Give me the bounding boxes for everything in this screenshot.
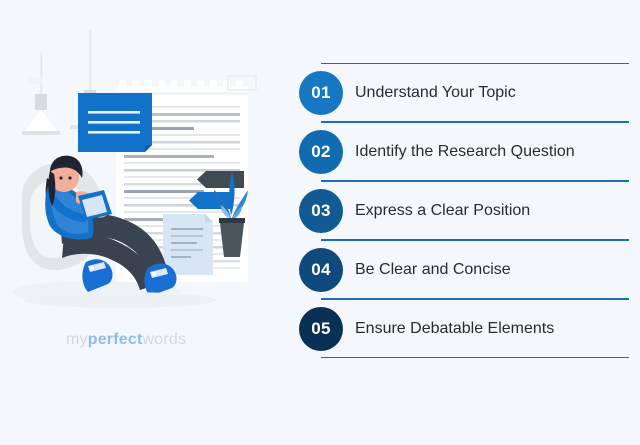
- step-label-2: Identify the Research Question: [355, 143, 575, 161]
- step-row-3[interactable]: 03 Express a Clear Position: [299, 181, 629, 240]
- step-label-3: Express a Clear Position: [355, 202, 530, 220]
- step-number-3: 03: [311, 201, 331, 221]
- step-rule-bottom-5: [321, 357, 629, 358]
- step-number-1: 01: [311, 83, 331, 103]
- pendant-lamp-left-icon: [22, 52, 60, 135]
- step-badge-5: 05: [299, 307, 343, 351]
- step-number-2: 02: [311, 142, 331, 162]
- blue-paper-sheet: [163, 214, 213, 275]
- step-row-2[interactable]: 02 Identify the Research Question: [299, 122, 629, 181]
- step-badge-2: 02: [299, 130, 343, 174]
- blue-sticky-note: [78, 93, 152, 152]
- logo-part-perfect: perfect: [88, 331, 143, 348]
- step-rule-top-5: [321, 299, 629, 300]
- dark-arrow-banner: [197, 171, 244, 188]
- step-rule-top-4: [321, 240, 629, 241]
- step-label-1: Understand Your Topic: [355, 84, 516, 102]
- step-number-5: 05: [311, 319, 331, 339]
- step-number-4: 04: [311, 260, 331, 280]
- floor-shadow: [24, 292, 216, 308]
- brand-logo: myperfectwords: [66, 331, 186, 349]
- step-rule-top-2: [321, 122, 629, 123]
- infographic-canvas: myperfectwords 01 Understand Your Topic …: [0, 0, 640, 440]
- steps-list: 01 Understand Your Topic 02 Identify the…: [299, 63, 629, 358]
- step-badge-4: 04: [299, 248, 343, 292]
- step-label-4: Be Clear and Concise: [355, 261, 511, 279]
- step-rule-top-3: [321, 181, 629, 182]
- step-badge-3: 03: [299, 189, 343, 233]
- step-badge-1: 01: [299, 71, 343, 115]
- logo-part-my: my: [66, 331, 88, 348]
- step-row-5[interactable]: 05 Ensure Debatable Elements: [299, 299, 629, 358]
- illustration-woman-reading: [0, 0, 290, 440]
- step-row-4[interactable]: 04 Be Clear and Concise: [299, 240, 629, 299]
- step-rule-top-1: [321, 63, 629, 64]
- step-label-5: Ensure Debatable Elements: [355, 320, 554, 338]
- logo-part-words: words: [143, 331, 187, 348]
- step-row-1[interactable]: 01 Understand Your Topic: [299, 63, 629, 122]
